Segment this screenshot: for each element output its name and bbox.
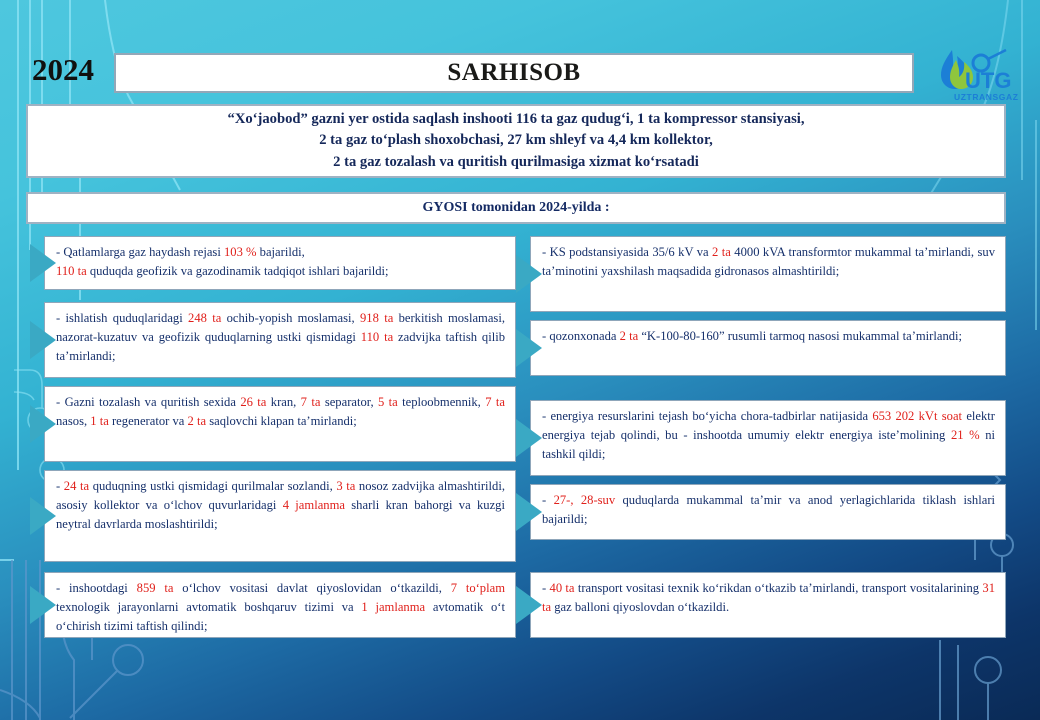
section-header-panel: GYOSI tomonidan 2024-yilda : <box>26 192 1006 224</box>
facility-summary-panel: “Xo‘jaobod” gazni yer ostida saqlash ins… <box>26 104 1006 178</box>
left-item-3: - Gazni tozalash va quritish sexida 26 t… <box>30 386 516 462</box>
svg-text:UZTRANSGAZ: UZTRANSGAZ <box>954 92 1019 102</box>
item-text: - Qatlamlarga gaz haydash rejasi 103 % b… <box>30 236 516 287</box>
facility-summary-text: “Xo‘jaobod” gazni yer ostida saqlash ins… <box>28 109 1004 172</box>
utg-logo: UTG UZTRANSGAZ <box>932 44 1028 106</box>
item-text: - 40 ta transport vositasi texnik ko‘rik… <box>516 572 1006 623</box>
main-title-bar: SARHISOB <box>114 53 914 93</box>
left-item-4: - 24 ta quduqning ustki qismidagi qurilm… <box>30 470 516 562</box>
item-text: - 24 ta quduqning ustki qismidagi qurilm… <box>30 470 516 540</box>
facility-summary-line-1: “Xo‘jaobod” gazni yer ostida saqlash ins… <box>28 109 1004 130</box>
item-text: - energiya resurslarini tejash bo‘yicha … <box>516 400 1006 470</box>
right-item-5: - 40 ta transport vositasi texnik ko‘rik… <box>516 572 1006 638</box>
facility-summary-line-3: 2 ta gaz tozalash va quritish qurilmasig… <box>28 152 1004 173</box>
right-item-1: - KS podstansiyasida 35/6 kV va 2 ta 400… <box>516 236 1006 312</box>
left-item-2: - ishlatish quduqlaridagi 248 ta ochib-y… <box>30 302 516 378</box>
facility-summary-line-2: 2 ta gaz to‘plash shoxobchasi, 27 km shl… <box>28 130 1004 151</box>
left-item-1: - Qatlamlarga gaz haydash rejasi 103 % b… <box>30 236 516 290</box>
item-text: - ishlatish quduqlaridagi 248 ta ochib-y… <box>30 302 516 372</box>
page-title: SARHISOB <box>447 59 580 87</box>
left-item-5: - inshootdagi 859 ta o‘lchov vositasi da… <box>30 572 516 638</box>
right-item-2: - qozonxonada 2 ta “K-100-80-160” rusuml… <box>516 320 1006 376</box>
item-text: - 27-, 28-suv quduqlarda mukammal ta’mir… <box>516 484 1006 535</box>
item-text: - KS podstansiyasida 35/6 kV va 2 ta 400… <box>516 236 1006 287</box>
svg-text:UTG: UTG <box>965 68 1011 93</box>
item-text: - inshootdagi 859 ta o‘lchov vositasi da… <box>30 572 516 642</box>
year-label: 2024 <box>32 52 94 88</box>
item-text: - qozonxonada 2 ta “K-100-80-160” rusuml… <box>516 320 1006 352</box>
item-text: - Gazni tozalash va quritish sexida 26 t… <box>30 386 516 437</box>
right-item-3: - energiya resurslarini tejash bo‘yicha … <box>516 400 1006 476</box>
section-header-text: GYOSI tomonidan 2024-yilda : <box>422 200 609 216</box>
right-item-4: - 27-, 28-suv quduqlarda mukammal ta’mir… <box>516 484 1006 540</box>
